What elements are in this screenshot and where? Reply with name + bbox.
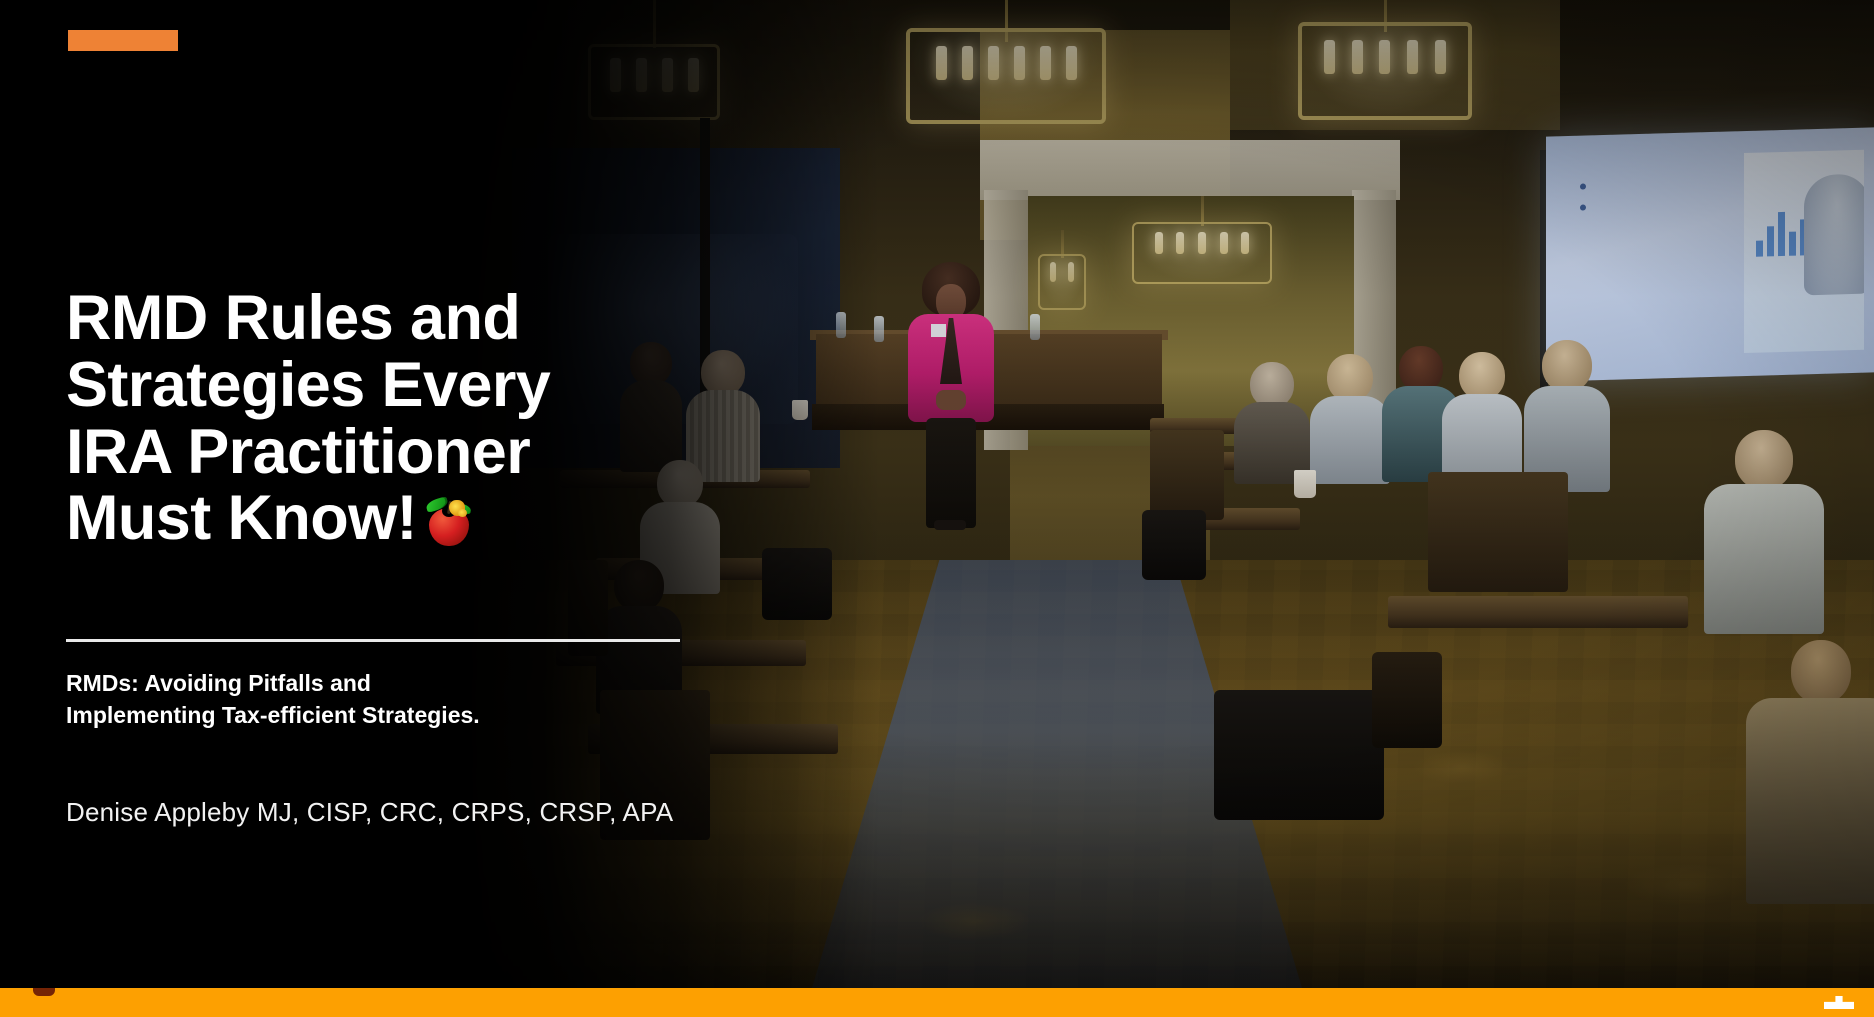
coffee-cup xyxy=(1294,470,1316,498)
chair-back xyxy=(1150,430,1224,520)
slide-subtitle: RMDs: Avoiding Pitfalls and Implementing… xyxy=(66,668,706,731)
audience-member xyxy=(1746,640,1874,900)
archway-molding xyxy=(980,140,1400,200)
title-divider xyxy=(66,639,680,642)
presenter-figure xyxy=(900,262,1000,530)
chandelier-icon xyxy=(1132,196,1272,346)
bar-right-cursor-icon xyxy=(1824,996,1854,1009)
bar-left-mark xyxy=(33,988,55,996)
presenter-pants xyxy=(926,418,976,528)
backpack xyxy=(1214,690,1384,820)
audience-member xyxy=(1704,430,1824,630)
projected-bullet xyxy=(1580,196,1738,210)
bag xyxy=(1142,510,1206,580)
bullet-dot-icon xyxy=(1580,183,1586,189)
thumbnail-bar-chart xyxy=(1756,203,1807,256)
presenter-badge xyxy=(931,324,946,337)
chair-back xyxy=(1428,472,1568,592)
slide-title: RMD Rules and Strategies Every IRA Pract… xyxy=(66,285,686,552)
presenter-hands xyxy=(936,390,966,410)
orange-accent-bar xyxy=(68,30,178,51)
water-bottle xyxy=(874,316,884,342)
thumbnail-text-lines xyxy=(1756,159,1816,161)
slide-title-text: RMD Rules and Strategies Every IRA Pract… xyxy=(66,283,550,553)
projected-slide-thumbnail xyxy=(1744,150,1864,353)
presentation-slide: RMD Rules and Strategies Every IRA Pract… xyxy=(0,0,1874,1017)
red-apple-icon xyxy=(423,496,475,548)
bullet-dot-icon xyxy=(1580,204,1586,210)
audience-table xyxy=(1388,596,1688,628)
water-bottle xyxy=(836,312,846,338)
coffee-cup xyxy=(792,400,808,420)
water-bottle xyxy=(1030,314,1040,340)
audience-member xyxy=(1310,354,1390,482)
thumbnail-person xyxy=(1804,174,1864,296)
bag xyxy=(762,548,832,620)
bottom-accent-bar xyxy=(0,988,1874,1017)
audience-member xyxy=(1442,352,1522,484)
chandelier-icon xyxy=(906,0,1106,160)
projected-slide-bullets xyxy=(1580,175,1738,221)
presenter-shoes xyxy=(934,520,966,530)
projected-bullet xyxy=(1580,175,1738,189)
audience-member xyxy=(1524,340,1610,490)
lantern-icon xyxy=(1038,230,1086,340)
chandelier-icon xyxy=(1298,0,1472,156)
bag xyxy=(1372,652,1442,748)
audience-member xyxy=(1234,362,1310,482)
slide-byline: Denise Appleby MJ, CISP, CRC, CRPS, CRSP… xyxy=(66,797,826,828)
